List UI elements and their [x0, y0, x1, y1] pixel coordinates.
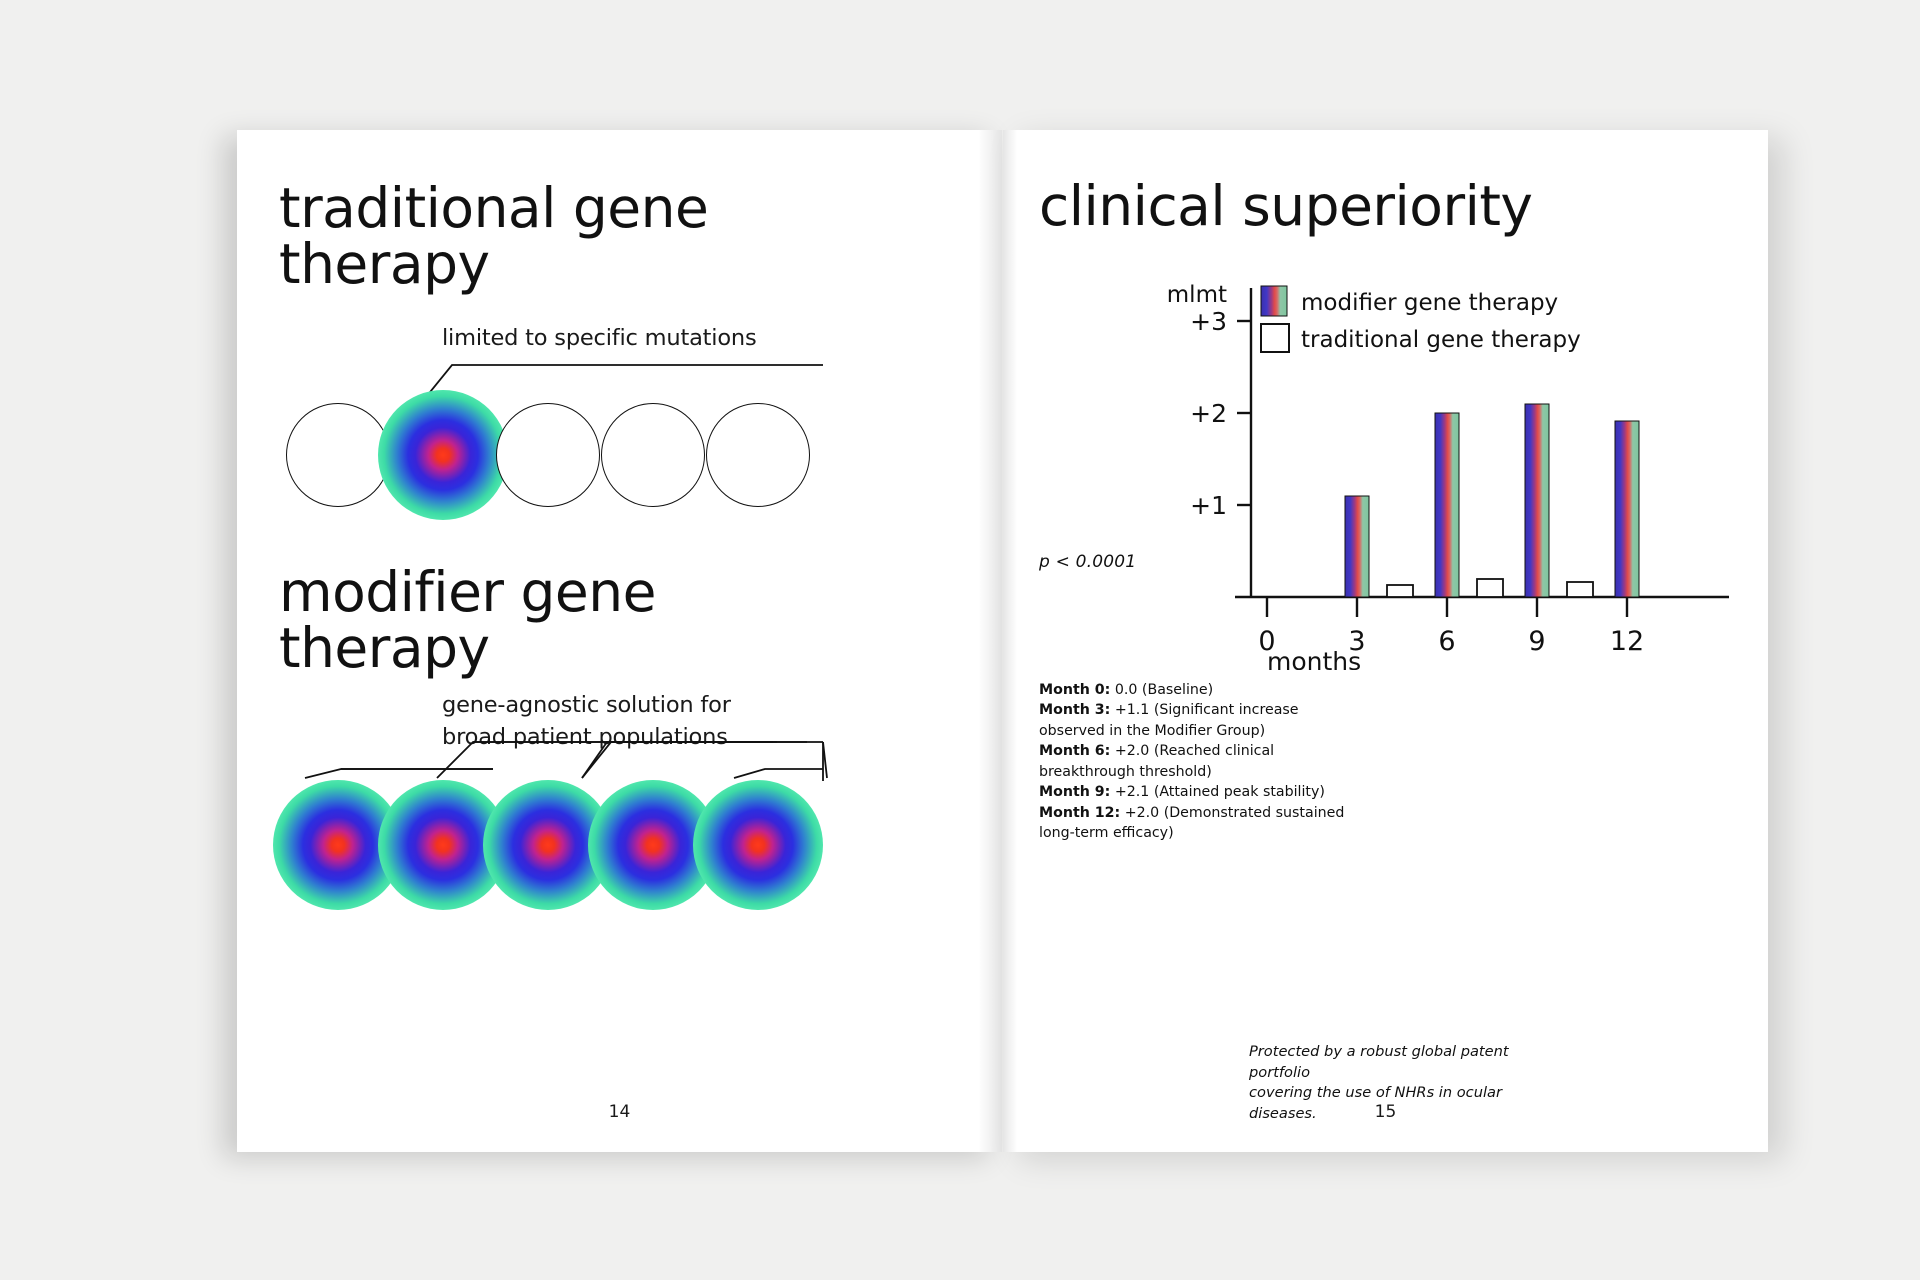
right-page: clinical superiority: [1003, 130, 1768, 1152]
legend-swatch-modifier: [1261, 286, 1287, 316]
monthly-results-list: Month 0: 0.0 (Baseline) Month 3: +1.1 (S…: [1039, 680, 1349, 844]
bar-modifier-month12: [1615, 421, 1639, 597]
connector-modifier: [237, 130, 1002, 1152]
bar-traditional-month6: [1477, 579, 1503, 597]
gutter-shadow-left: [1003, 130, 1017, 1152]
y-tick-label-1: +1: [1190, 491, 1227, 520]
list-item-label: Month 3:: [1039, 702, 1110, 718]
list-item-label: Month 12:: [1039, 805, 1120, 821]
bar-modifier-month3: [1345, 496, 1369, 597]
legend-label-traditional: traditional gene therapy: [1301, 327, 1581, 353]
list-item-label: Month 6:: [1039, 743, 1110, 759]
x-tick-label-12: 12: [1610, 626, 1644, 657]
page-title-clinical: clinical superiority: [1039, 178, 1679, 234]
legend-swatch-traditional: [1261, 324, 1289, 352]
chart-svg: +1 +2 +3 mlmt 0 3 6 9 12: [1039, 280, 1739, 670]
magazine-spread: traditional gene therapy limited to spec…: [237, 130, 1768, 1152]
x-axis-label: months: [1267, 647, 1361, 670]
page-number-left: 14: [237, 1102, 1002, 1122]
list-item: Month 12: +2.0 (Demonstrated sustained l…: [1039, 803, 1349, 844]
bar-modifier-month6: [1435, 413, 1459, 597]
p-value-annotation: p < 0.0001: [1039, 552, 1136, 572]
list-item-label: Month 0:: [1039, 682, 1110, 698]
circle-cell: [693, 780, 823, 910]
bar-traditional-month9: [1567, 582, 1593, 597]
patent-footnote-line1: Protected by a robust global patent port…: [1249, 1042, 1569, 1083]
circle-gradient-icon: [693, 780, 823, 910]
list-item-label: Month 9:: [1039, 784, 1110, 800]
chart-legend: modifier gene therapy traditional gene t…: [1261, 286, 1581, 353]
modifier-circle-row: [237, 780, 1002, 910]
list-item: Month 0: 0.0 (Baseline): [1039, 680, 1349, 700]
list-item: Month 9: +2.1 (Attained peak stability): [1039, 782, 1349, 802]
y-tick-label-3: +3: [1190, 307, 1227, 336]
clinical-superiority-chart: +1 +2 +3 mlmt 0 3 6 9 12: [1039, 280, 1739, 670]
x-tick-label-9: 9: [1528, 626, 1545, 657]
bar-modifier-month9: [1525, 404, 1549, 597]
left-page: traditional gene therapy limited to spec…: [237, 130, 1002, 1152]
list-item: Month 6: +2.0 (Reached clinical breakthr…: [1039, 741, 1349, 782]
page-number-right: 15: [1003, 1102, 1768, 1122]
bar-traditional-month3: [1387, 585, 1413, 597]
x-tick-label-6: 6: [1438, 626, 1455, 657]
y-axis-label: mlmt: [1167, 282, 1227, 308]
list-item-text: +2.1 (Attained peak stability): [1110, 784, 1325, 800]
y-tick-label-2: +2: [1190, 399, 1227, 428]
legend-label-modifier: modifier gene therapy: [1301, 290, 1558, 316]
list-item-text: 0.0 (Baseline): [1110, 682, 1213, 698]
list-item: Month 3: +1.1 (Significant increase obse…: [1039, 700, 1349, 741]
